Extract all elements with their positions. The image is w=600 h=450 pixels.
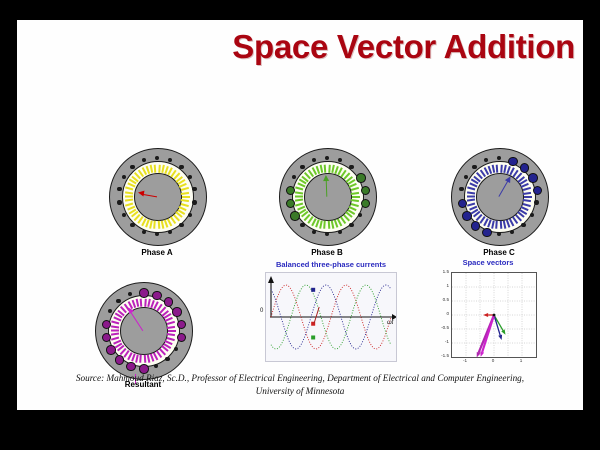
wave-xaxis-label: ωt [387,320,393,326]
winding-tick [352,196,360,198]
stator-slot-dot [188,213,192,217]
stator-slot-dot [188,175,192,179]
stator-slot-dot [349,165,353,169]
stator-slot-dot [508,157,518,167]
source-citation: Source: Mahmoud Riaz, Sc.D., Professor o… [17,372,583,398]
winding-tick [158,221,160,229]
space-vectors-svg [452,273,536,357]
stator-slot-dot [179,223,183,227]
wave-y-axis-arrow [268,276,274,283]
winding-tick [500,164,502,172]
stator-slot-dot [172,307,182,317]
stator-slot-dot [521,223,525,227]
stator-slot-dot [192,200,196,204]
stator-slot-dot [174,347,178,351]
phase-b-label: Phase B [279,248,375,257]
wave-chart-title: Balanced three-phase currents [265,260,397,269]
slide-canvas: Space Vector Addition Phase A Phase B Ph… [17,20,583,410]
sv-y-tick-label: 1.5 [431,269,449,274]
stator-slot-dot [530,213,534,217]
winding-tick [144,298,146,306]
space-vectors-title: Space vectors [429,258,547,267]
winding-tick [295,196,303,198]
wave-plot-area [265,272,397,362]
winding-tick [500,221,502,229]
sv-y-tick-label: 0 [431,311,449,316]
stator-slot-dot [164,297,174,307]
stator-slot-dot [130,223,134,227]
stator-slot-dot [165,357,169,361]
wave-marker-phase-b [311,335,315,339]
stator-slot-dot [116,299,120,303]
sv-origin-marker [493,314,496,317]
wave-instant-pointer [314,307,319,323]
stator-slot-dot [142,230,146,234]
sv-phase-c-vector-head [498,335,503,341]
winding-tick [144,355,146,363]
stator-slot-dot [300,223,304,227]
flux-arrow-head [323,175,329,181]
phase-a-label: Phase A [109,248,205,257]
figure-phase-c: Phase C [451,148,547,260]
page-title: Space Vector Addition [232,28,575,66]
stator-slot-dot [130,165,134,169]
stator-slot-dot [312,230,316,234]
sv-phase-b-vector-head [501,329,507,335]
wave-origin-label: 0 [260,308,263,314]
stator-slot-dot [534,200,538,204]
stator-slot-dot [472,165,476,169]
winding-tick [182,196,190,198]
stator-slot-dot [300,165,304,169]
winding-tick [125,196,133,198]
sv-y-tick-label: 0.5 [431,297,449,302]
source-line-2: University of Minnesota [53,385,547,398]
winding-tick [524,196,532,198]
winding-tick [111,330,119,332]
source-line-1: Source: Mahmoud Riaz, Sc.D., Professor o… [53,372,547,385]
stator-slot-dot [349,223,353,227]
sv-y-tick-label: -0.5 [431,325,449,330]
sv-y-tick-label: -1.5 [431,353,449,358]
winding-tick [158,164,160,172]
sv-x-tick-label: -1 [459,358,471,363]
stator-slot-dot [528,173,538,183]
stator-slot-dot [510,230,514,234]
stator-slot-dot [139,288,149,298]
sv-y-tick-label: 1 [431,283,449,288]
stator-slot-dot [358,213,362,217]
sv-y-tick-label: -1 [431,339,449,344]
figure-phase-b: Phase B [279,148,375,260]
sv-phase-a-vector-head [483,313,488,317]
sv-x-tick-label: 1 [515,358,527,363]
stator-slot-dot [520,163,530,173]
figure-phase-a: Phase A [109,148,205,260]
balanced-currents-chart: Balanced three-phase currents 0 ωt [265,260,397,365]
stator-slot-dot [356,173,366,183]
stator-slot-dot [179,165,183,169]
stator-slot-dot [168,230,172,234]
stator-slot-dot [154,364,158,368]
space-vectors-plot-area [451,272,537,358]
sv-resultant-vector-2 [482,315,494,352]
winding-tick [328,221,330,229]
stator-slot-dot [338,230,342,234]
wave-svg [266,273,396,361]
winding-tick [328,164,330,172]
winding-tick [467,196,475,198]
stator-slot-dot [117,200,121,204]
stator-slot-dot [152,291,162,301]
phase-c-label: Phase C [451,248,547,257]
space-vectors-chart: Space vectors 1.510.50-0.5-1-1.5 -101 [429,258,547,376]
wave-marker-phase-c [311,288,315,292]
sv-x-tick-label: 0 [487,358,499,363]
winding-tick [168,330,176,332]
